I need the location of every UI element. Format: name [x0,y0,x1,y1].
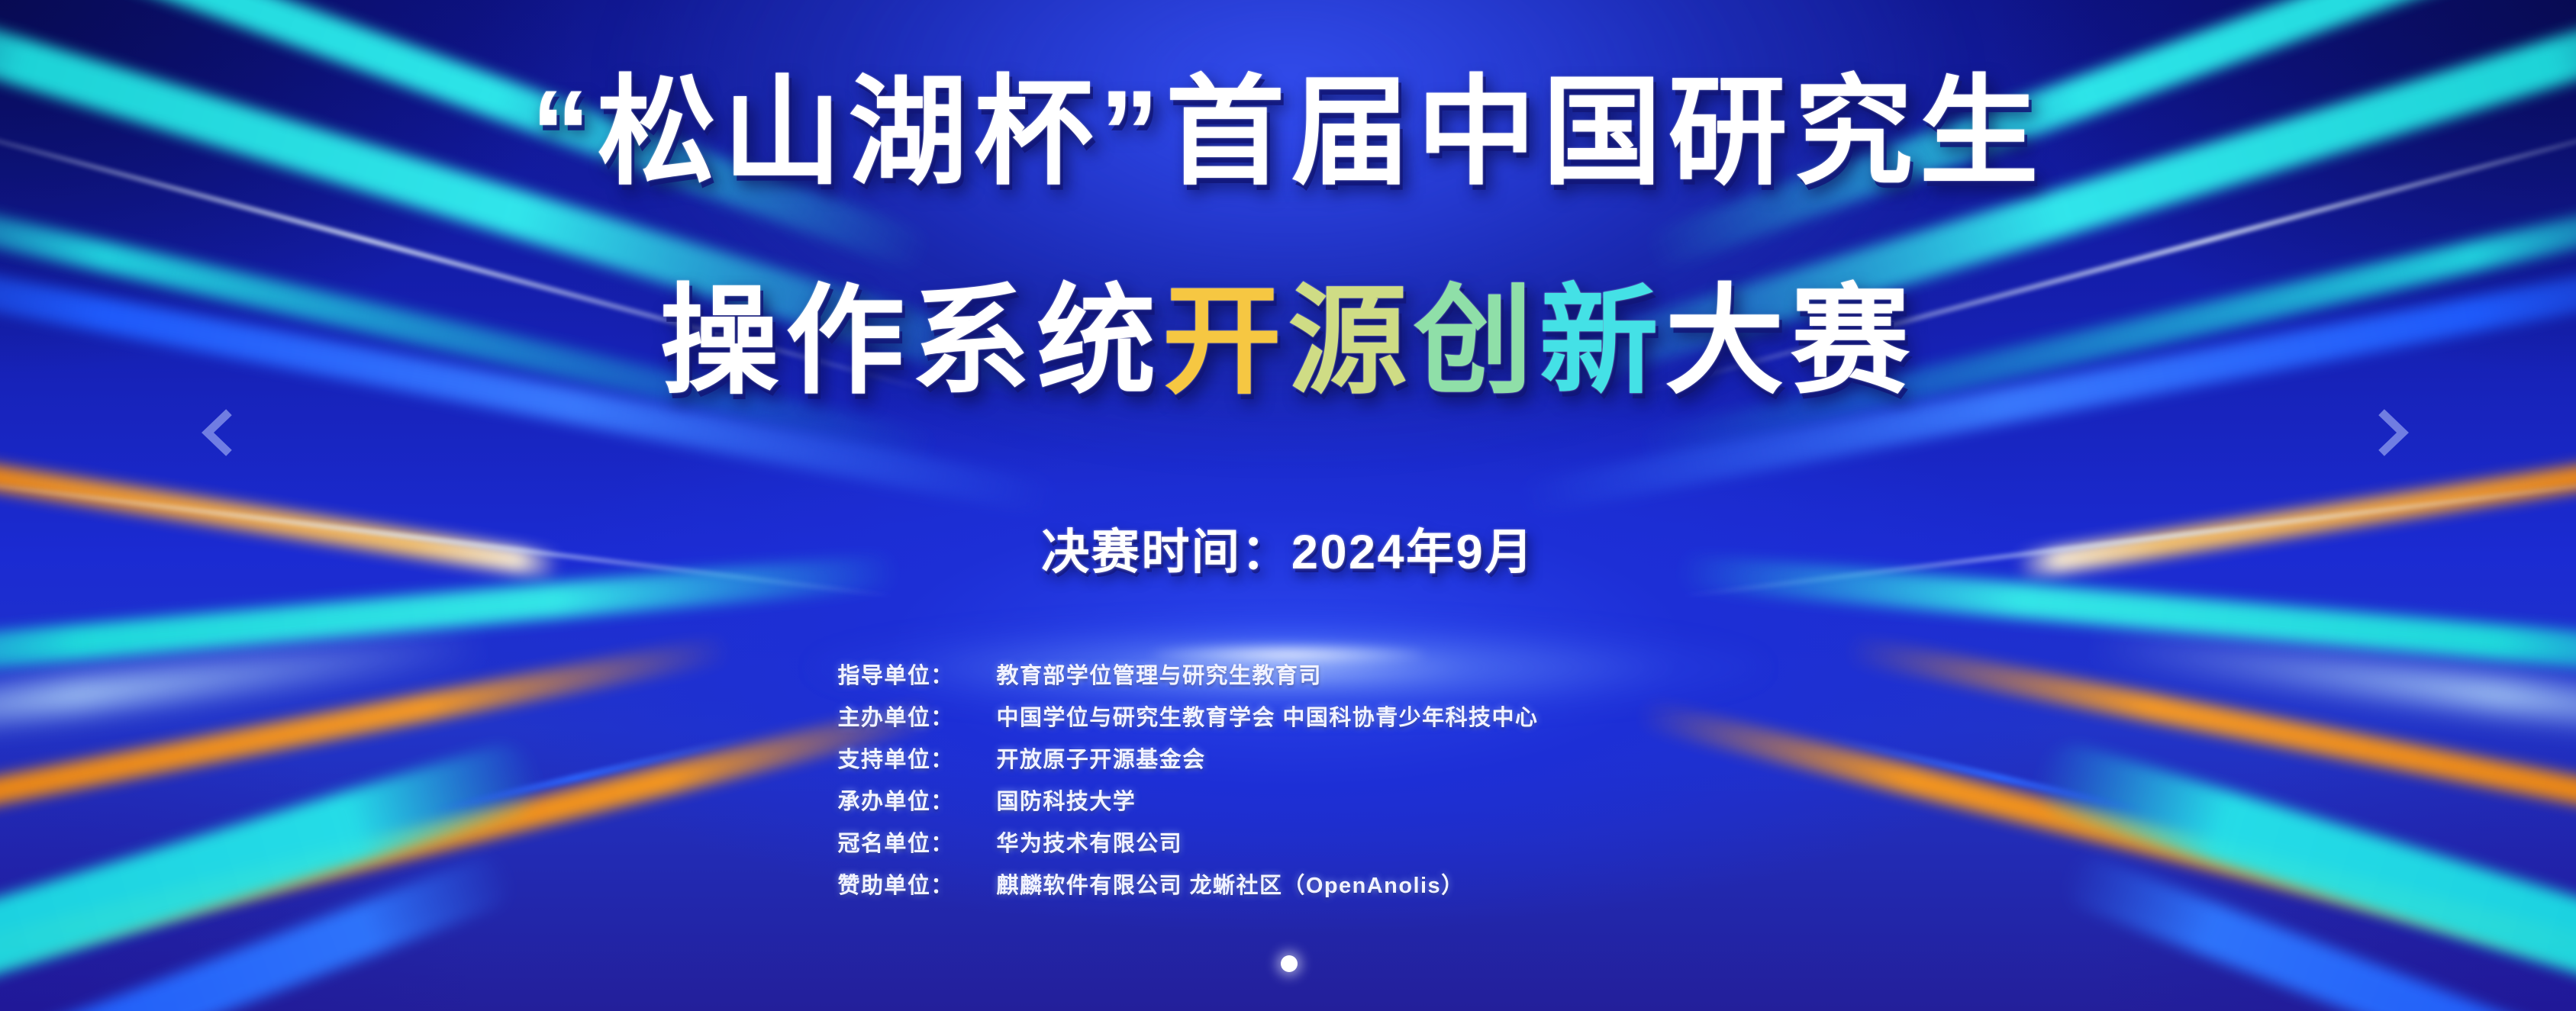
chevron-right-icon [2363,403,2423,462]
org-label-sponsor: 赞助单位： [838,868,997,900]
org-value-sponsor: 麒麟软件有限公司 龙蜥社区（OpenAnolis） [997,868,1739,900]
carousel-prev-button[interactable] [188,403,247,462]
title-segment-white-1: 操作系统 [660,275,1162,408]
org-value-support: 开放原子开源基金会 [997,742,1739,774]
org-label-guidance: 指导单位： [838,658,997,690]
org-row-sponsor: 赞助单位： 麒麟软件有限公司 龙蜥社区（OpenAnolis） [838,868,1739,900]
title-segment-white-2: 大赛 [1665,275,1916,408]
org-label-organizer: 承办单位： [838,784,997,816]
org-row-support: 支持单位： 开放原子开源基金会 [838,742,1739,774]
org-value-host: 中国学位与研究生教育学会 中国科协青少年科技中心 [997,700,1739,732]
organizations-list: 指导单位： 教育部学位管理与研究生教育司 主办单位： 中国学位与研究生教育学会 … [838,658,1739,900]
org-row-title-sponsor: 冠名单位： 华为技术有限公司 [838,826,1739,858]
org-label-title-sponsor: 冠名单位： [838,826,997,858]
banner-content: “松山湖杯”首届中国研究生 操作系统开源创新大赛 决赛时间：2024年9月 指导… [0,0,2576,1011]
title-segment-gold: 开 [1162,275,1288,408]
org-row-host: 主办单位： 中国学位与研究生教育学会 中国科协青少年科技中心 [838,700,1739,732]
org-label-host: 主办单位： [838,700,997,732]
org-row-organizer: 承办单位： 国防科技大学 [838,784,1739,816]
title-segment-green: 创 [1414,275,1539,408]
org-row-guidance: 指导单位： 教育部学位管理与研究生教育司 [838,658,1739,690]
org-value-title-sponsor: 华为技术有限公司 [997,826,1739,858]
page-title-line-2: 操作系统开源创新大赛 [0,282,2576,401]
carousel-next-button[interactable] [2363,403,2423,462]
org-value-organizer: 国防科技大学 [997,784,1739,816]
title-segment-yellow-green: 源 [1288,275,1414,408]
promo-banner: “松山湖杯”首届中国研究生 操作系统开源创新大赛 决赛时间：2024年9月 指导… [0,0,2576,1011]
title-segment-cyan: 新 [1539,275,1665,408]
org-label-support: 支持单位： [838,742,997,774]
carousel-indicator-dot[interactable] [1281,955,1298,972]
page-title-line-1: “松山湖杯”首届中国研究生 [0,73,2576,192]
org-value-guidance: 教育部学位管理与研究生教育司 [997,658,1739,690]
chevron-left-icon [188,403,247,462]
final-date-subtitle: 决赛时间：2024年9月 [0,514,2576,583]
